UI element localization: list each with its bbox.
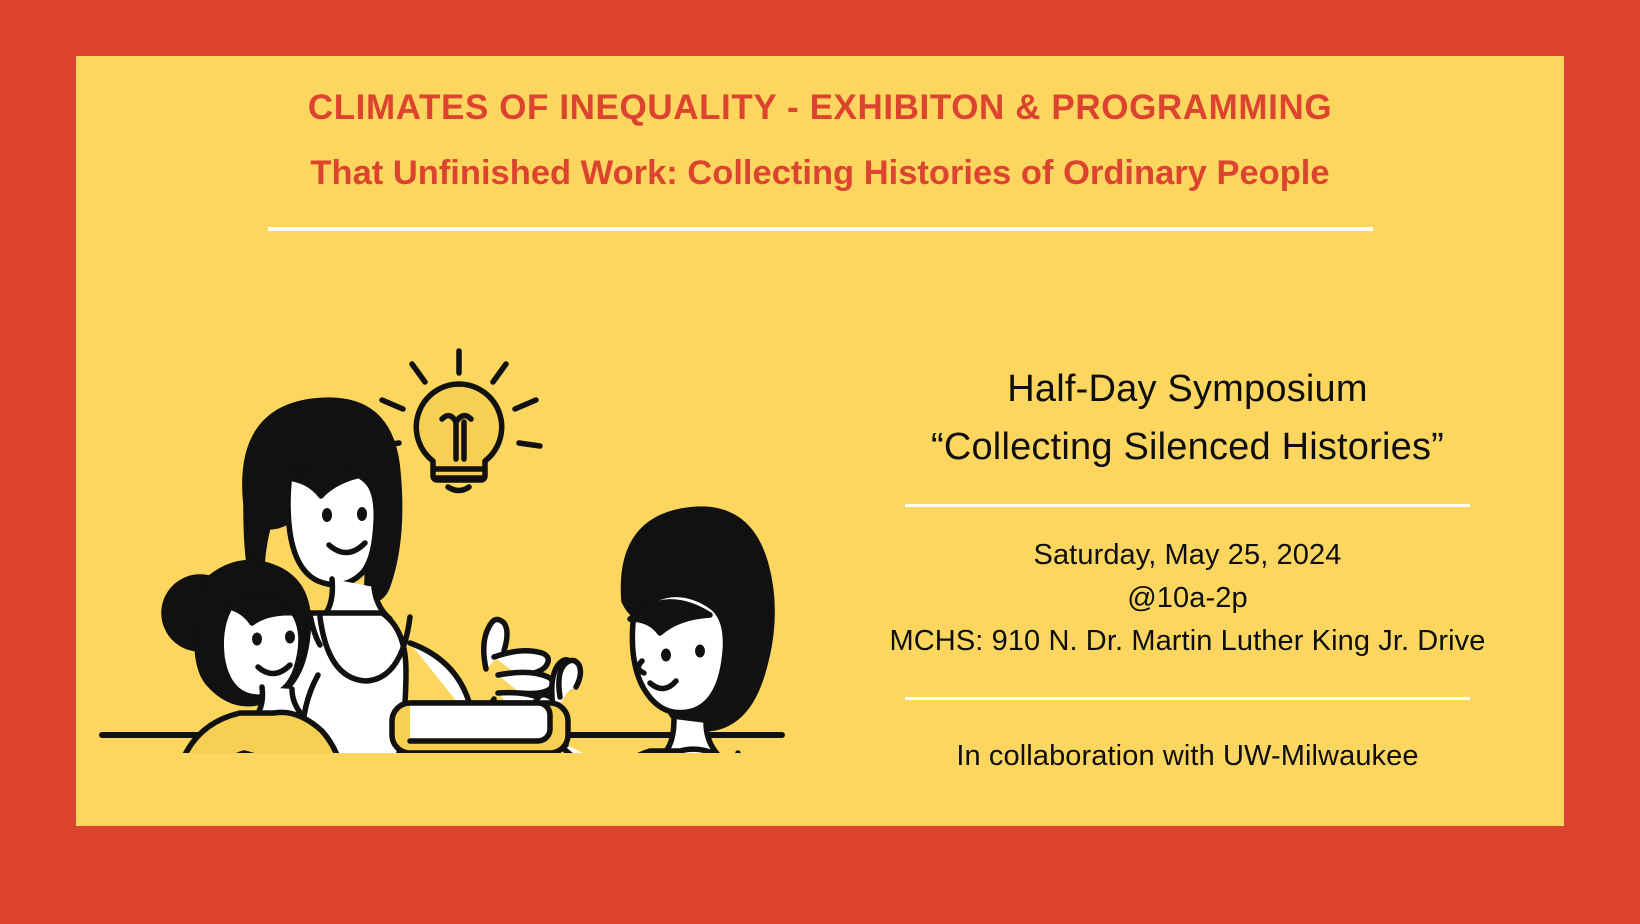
event-time: @10a-2p [811, 577, 1564, 620]
header-divider [268, 227, 1373, 231]
poster-subtitle: That Unfinished Work: Collecting Histori… [76, 154, 1564, 194]
poster-header: CLIMATES OF INEQUALITY - EXHIBITON & PRO… [76, 56, 1564, 231]
lightbulb-icon [378, 351, 540, 491]
poster-kicker: CLIMATES OF INEQUALITY - EXHIBITON & PRO… [76, 89, 1564, 128]
event-venue: MCHS: 910 N. Dr. Martin Luther King Jr. … [811, 620, 1564, 663]
event-title-line1: Half-Day Symposium [811, 361, 1564, 419]
event-title-line2: “Collecting Silenced Histories” [811, 419, 1564, 477]
illustration-column [76, 261, 811, 753]
table-book [392, 703, 568, 753]
collaboration-note: In collaboration with UW-Milwaukee [811, 740, 1564, 773]
event-divider-top [905, 504, 1470, 508]
poster-root: CLIMATES OF INEQUALITY - EXHIBITON & PRO… [0, 0, 1640, 924]
three-women-studying-illustration [94, 283, 794, 753]
event-date: Saturday, May 25, 2024 [811, 534, 1564, 577]
poster-panel: CLIMATES OF INEQUALITY - EXHIBITON & PRO… [76, 56, 1564, 826]
event-divider-bottom [905, 697, 1470, 701]
event-details-column: Half-Day Symposium “Collecting Silenced … [811, 261, 1564, 773]
poster-body: Half-Day Symposium “Collecting Silenced … [76, 261, 1564, 826]
